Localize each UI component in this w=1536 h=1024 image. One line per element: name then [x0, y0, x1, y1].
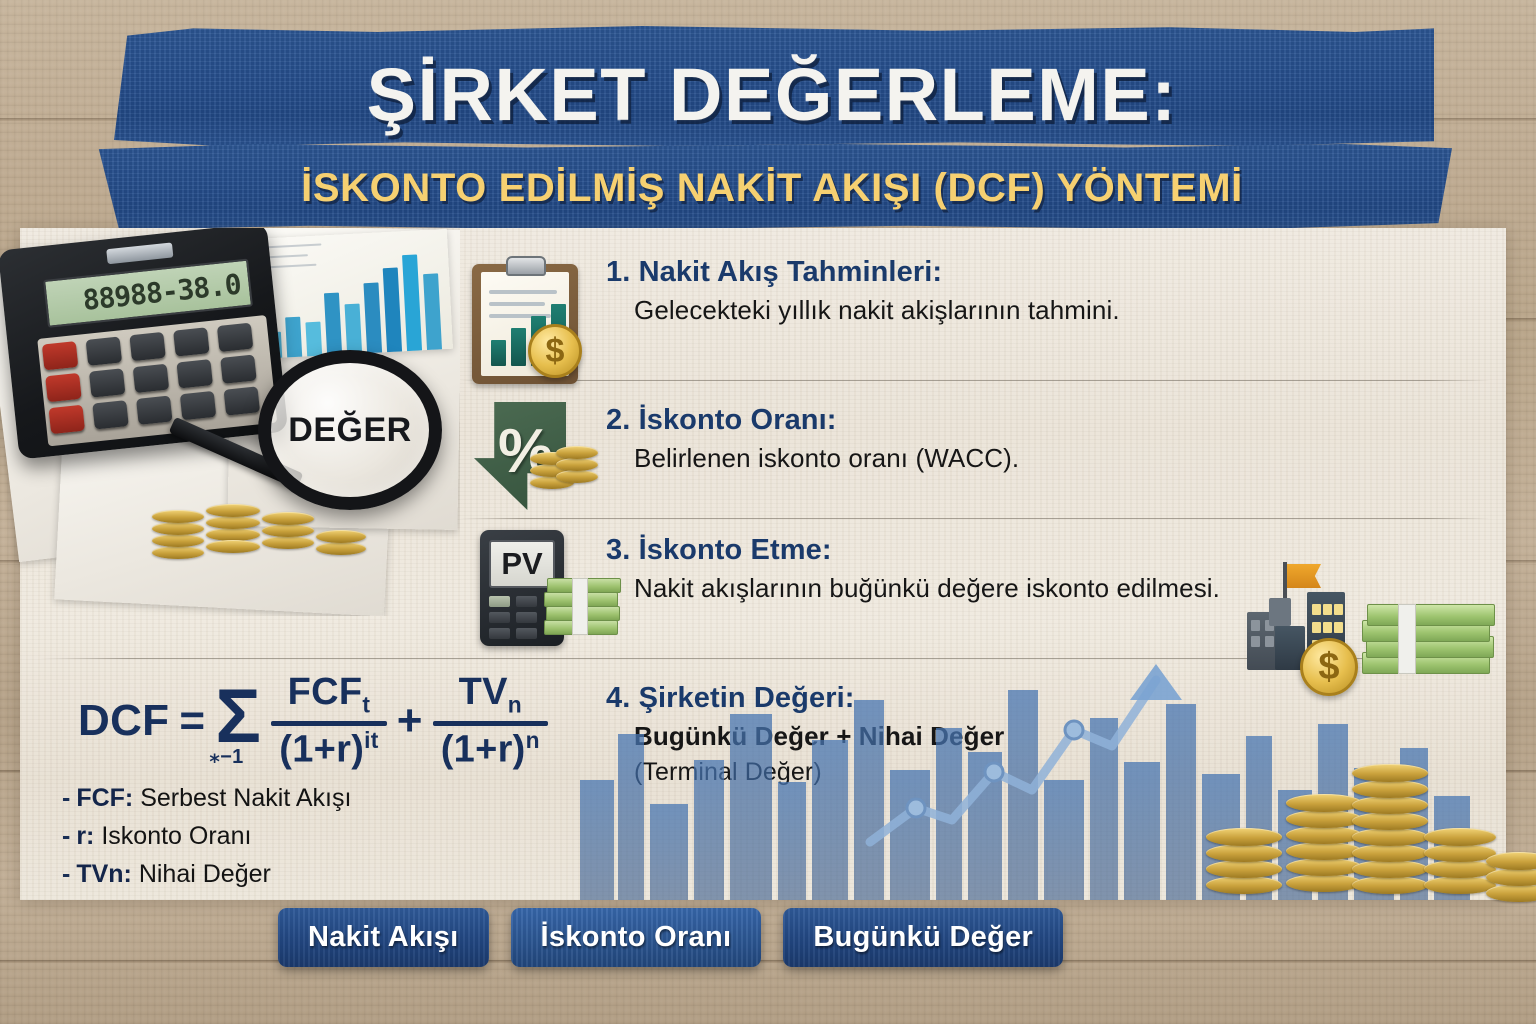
step-1: 1. Nakit Akış Tahminleri: Gelecekteki yı…	[606, 256, 1120, 326]
step-separator	[460, 518, 1490, 519]
building	[1269, 598, 1291, 626]
magnifier-glass: DEĞER	[258, 350, 442, 510]
formula-equals: =	[179, 696, 205, 746]
page-title: ŞİRKET DEĞERLEME:	[92, 52, 1452, 137]
bottom-tag-row: Nakit Akışı İskonto Oranı Bugünkü Değer	[278, 908, 1063, 967]
formula-term-tv: TVn (1+r)n	[433, 672, 548, 771]
legend-item: -FCF: Serbest Nakit Akışı	[62, 784, 351, 813]
summation-subscript: ⁎−1	[209, 749, 243, 765]
step-2-description: Belirlenen iskonto oranı (WACC).	[634, 443, 1019, 474]
dollar-coin-icon: $	[528, 324, 582, 378]
percent-down-arrow-coins-icon: %	[472, 400, 592, 514]
calculator-keypad	[37, 315, 277, 446]
solar-panel	[106, 242, 173, 264]
header-banner: ŞİRKET DEĞERLEME: İSKONTO EDİLMİŞ NAKİT …	[92, 26, 1452, 216]
flag-icon	[1287, 564, 1321, 588]
legend-item: -TVn: Nihai Değer	[62, 860, 351, 889]
tv-numerator: TVn	[451, 672, 530, 717]
infographic-canvas: ŞİRKET DEĞERLEME: İSKONTO EDİLMİŞ NAKİT …	[0, 0, 1536, 1024]
step-1-description: Gelecekteki yıllık nakit akişlarının tah…	[634, 295, 1120, 326]
clipboard-chart-coin-icon: $	[468, 256, 584, 386]
summation-symbol: Σ ⁎−1	[215, 687, 261, 748]
fcf-denominator: (1+r)it	[271, 728, 386, 771]
big-dollar-coin-icon: $	[1300, 638, 1358, 696]
calculator-display: 88988-38.0	[43, 259, 253, 328]
step-separator	[460, 380, 1490, 381]
step-2: 2. İskonto Oranı: Belirlenen iskonto ora…	[606, 404, 1019, 474]
money-bundle-icon	[1362, 596, 1502, 680]
legend-item: -r: Iskonto Oranı	[62, 822, 351, 851]
formula-term-fcf: FCFt (1+r)it	[271, 672, 386, 771]
step-1-title: 1. Nakit Akış Tahminleri:	[606, 256, 1120, 289]
step-2-title: 2. İskonto Oranı:	[606, 404, 1019, 437]
page-subtitle: İSKONTO EDİLMİŞ NAKİT AKIŞI (DCF) YÖNTEM…	[92, 166, 1452, 211]
step-3: 3. İskonto Etme: Nakit akışlarının buğün…	[606, 534, 1220, 604]
formula-legend: -FCF: Serbest Nakit Akışı -r: Iskonto Or…	[62, 784, 351, 898]
fcf-numerator: FCFt	[280, 672, 379, 717]
step-3-title: 3. İskonto Etme:	[606, 534, 1220, 567]
tag-bugunku-deger[interactable]: Bugünkü Değer	[783, 908, 1063, 967]
desk-calculator: 88988-38.0	[0, 228, 288, 460]
growth-arrow-icon	[860, 660, 1200, 860]
dcf-formula: DCF = Σ ⁎−1 FCFt (1+r)it + TVn (1+r)n	[78, 672, 548, 771]
formula-plus: +	[397, 696, 423, 746]
tag-nakit-akisi[interactable]: Nakit Akışı	[278, 908, 489, 967]
magnifier-label: DEĞER	[288, 411, 411, 450]
formula-lhs: DCF	[78, 696, 169, 746]
tag-iskonto-orani[interactable]: İskonto Oranı	[511, 908, 762, 967]
calculator-photo-collage: 88988-38.0 DEĞER	[0, 228, 460, 616]
tv-denominator: (1+r)n	[433, 728, 548, 771]
